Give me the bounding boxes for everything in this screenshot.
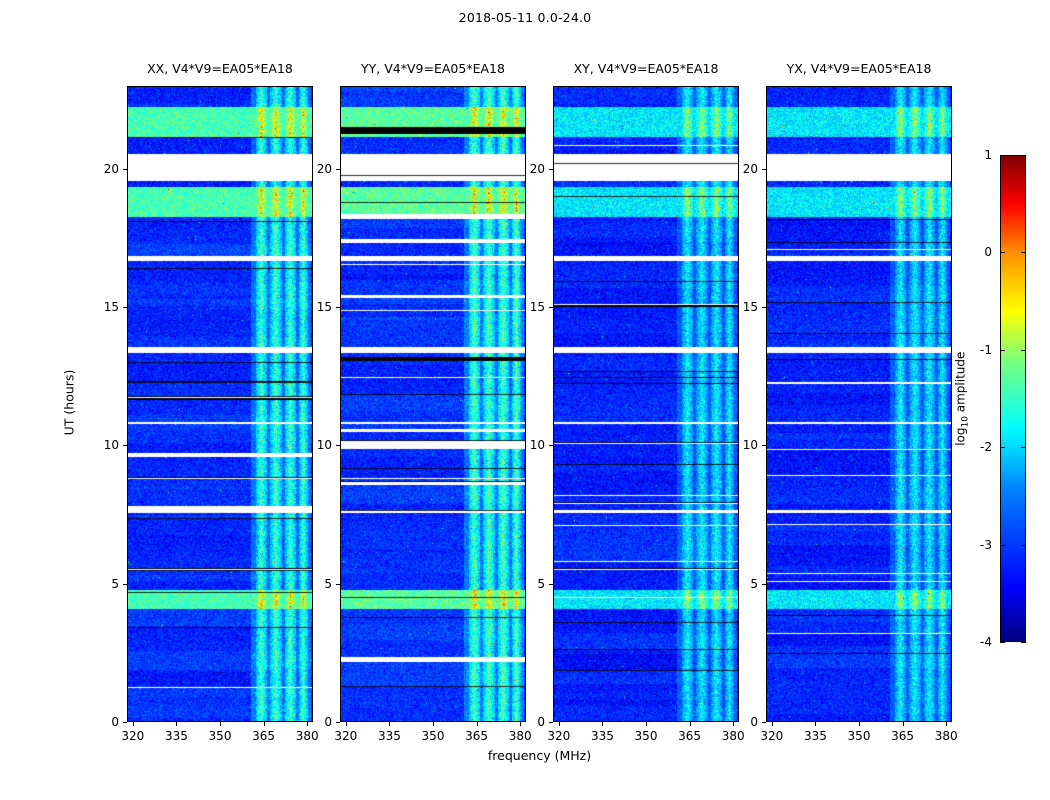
x-tick-mark [903, 722, 904, 726]
x-tick-mark [133, 722, 134, 726]
y-tick-mark [336, 445, 340, 446]
colorbar-tick-mark [1021, 642, 1026, 643]
colorbar-tick-mark [1021, 252, 1026, 253]
x-tick-label: 380 [509, 729, 532, 743]
x-tick-mark [946, 722, 947, 726]
colorbar-tick-label: -3 [958, 538, 992, 552]
y-tick-label: 20 [722, 162, 758, 176]
y-tick-mark [762, 445, 766, 446]
y-tick-mark [762, 169, 766, 170]
y-tick-label: 20 [83, 162, 119, 176]
x-tick-mark [859, 722, 860, 726]
x-tick-label: 365 [678, 729, 701, 743]
x-tick-label: 380 [722, 729, 745, 743]
x-tick-label: 335 [378, 729, 401, 743]
colorbar-tick-mark [1000, 545, 1005, 546]
y-tick-label: 20 [509, 162, 545, 176]
x-tick-label: 350 [209, 729, 232, 743]
y-tick-label: 15 [509, 300, 545, 314]
y-tick-label: 5 [296, 577, 332, 591]
y-tick-mark [336, 307, 340, 308]
y-tick-label: 15 [296, 300, 332, 314]
x-tick-mark [433, 722, 434, 726]
y-tick-label: 15 [722, 300, 758, 314]
colorbar-caption: log10 amplitude [953, 318, 970, 478]
y-tick-label: 10 [509, 438, 545, 452]
colorbar-tick-mark [1021, 350, 1026, 351]
spectrogram-image [554, 87, 739, 722]
x-tick-label: 350 [422, 729, 445, 743]
spectrogram-panel-xy[interactable] [553, 86, 739, 722]
y-tick-label: 15 [83, 300, 119, 314]
x-tick-label: 350 [635, 729, 658, 743]
y-tick-label: 0 [296, 715, 332, 729]
y-tick-mark [549, 584, 553, 585]
colorbar[interactable] [1000, 155, 1026, 642]
x-tick-mark [646, 722, 647, 726]
y-tick-mark [336, 584, 340, 585]
x-tick-label: 350 [848, 729, 871, 743]
spectrogram-panel-yy[interactable] [340, 86, 526, 722]
x-tick-label: 365 [465, 729, 488, 743]
y-tick-label: 20 [296, 162, 332, 176]
y-tick-mark [123, 722, 127, 723]
colorbar-tick-label: 0 [958, 245, 992, 259]
colorbar-tick-mark [1021, 447, 1026, 448]
colorbar-tick-mark [1000, 642, 1005, 643]
figure-suptitle: 2018-05-11 0.0-24.0 [0, 10, 1050, 25]
figure-canvas: 2018-05-11 0.0-24.0 XX, V4*V9=EA05*EA183… [0, 0, 1050, 800]
y-tick-mark [762, 584, 766, 585]
y-tick-label: 0 [83, 715, 119, 729]
spectrogram-panel-xx[interactable] [127, 86, 313, 722]
y-tick-label: 5 [83, 577, 119, 591]
y-tick-label: 10 [722, 438, 758, 452]
colorbar-caption-text: log10 amplitude [953, 351, 967, 445]
colorbar-tick-mark [1000, 252, 1005, 253]
x-tick-mark [346, 722, 347, 726]
colorbar-tick-label: 1 [958, 148, 992, 162]
colorbar-tick-mark [1000, 447, 1005, 448]
y-tick-mark [336, 169, 340, 170]
y-tick-mark [336, 722, 340, 723]
spectrogram-panel-yx[interactable] [766, 86, 952, 722]
x-tick-mark [264, 722, 265, 726]
x-tick-mark [815, 722, 816, 726]
y-tick-mark [549, 169, 553, 170]
y-tick-label: 10 [83, 438, 119, 452]
x-tick-mark [389, 722, 390, 726]
x-tick-label: 320 [547, 729, 570, 743]
y-tick-mark [123, 169, 127, 170]
spectrogram-image [767, 87, 952, 722]
x-tick-mark [176, 722, 177, 726]
x-tick-label: 335 [804, 729, 827, 743]
x-tick-label: 335 [591, 729, 614, 743]
x-tick-mark [559, 722, 560, 726]
y-tick-mark [123, 584, 127, 585]
spectrogram-image [341, 87, 526, 722]
colorbar-tick-mark [1021, 545, 1026, 546]
y-tick-label: 10 [296, 438, 332, 452]
y-tick-mark [549, 722, 553, 723]
y-tick-mark [123, 445, 127, 446]
y-tick-mark [549, 445, 553, 446]
colorbar-tick-mark [1000, 155, 1005, 156]
colorbar-tick-mark [1021, 155, 1026, 156]
y-tick-mark [762, 307, 766, 308]
y-tick-label: 0 [722, 715, 758, 729]
x-tick-label: 320 [121, 729, 144, 743]
x-tick-mark [772, 722, 773, 726]
x-tick-mark [477, 722, 478, 726]
panel-title-yx: YX, V4*V9=EA05*EA18 [726, 61, 992, 76]
x-tick-mark [690, 722, 691, 726]
x-tick-label: 380 [935, 729, 958, 743]
y-tick-label: 5 [722, 577, 758, 591]
x-tick-label: 320 [760, 729, 783, 743]
y-tick-label: 5 [509, 577, 545, 591]
x-axis-caption: frequency (MHz) [0, 748, 1050, 763]
x-tick-label: 335 [165, 729, 188, 743]
y-tick-mark [762, 722, 766, 723]
colorbar-tick-label: -4 [958, 635, 992, 649]
spectrogram-image [128, 87, 313, 722]
x-tick-label: 320 [334, 729, 357, 743]
y-tick-mark [123, 307, 127, 308]
x-tick-label: 365 [252, 729, 275, 743]
y-tick-mark [549, 307, 553, 308]
y-tick-label: 0 [509, 715, 545, 729]
x-tick-label: 365 [891, 729, 914, 743]
x-tick-mark [220, 722, 221, 726]
y-axis-caption: UT (hours) [62, 333, 77, 473]
colorbar-tick-mark [1000, 350, 1005, 351]
x-tick-mark [602, 722, 603, 726]
x-tick-label: 380 [296, 729, 319, 743]
